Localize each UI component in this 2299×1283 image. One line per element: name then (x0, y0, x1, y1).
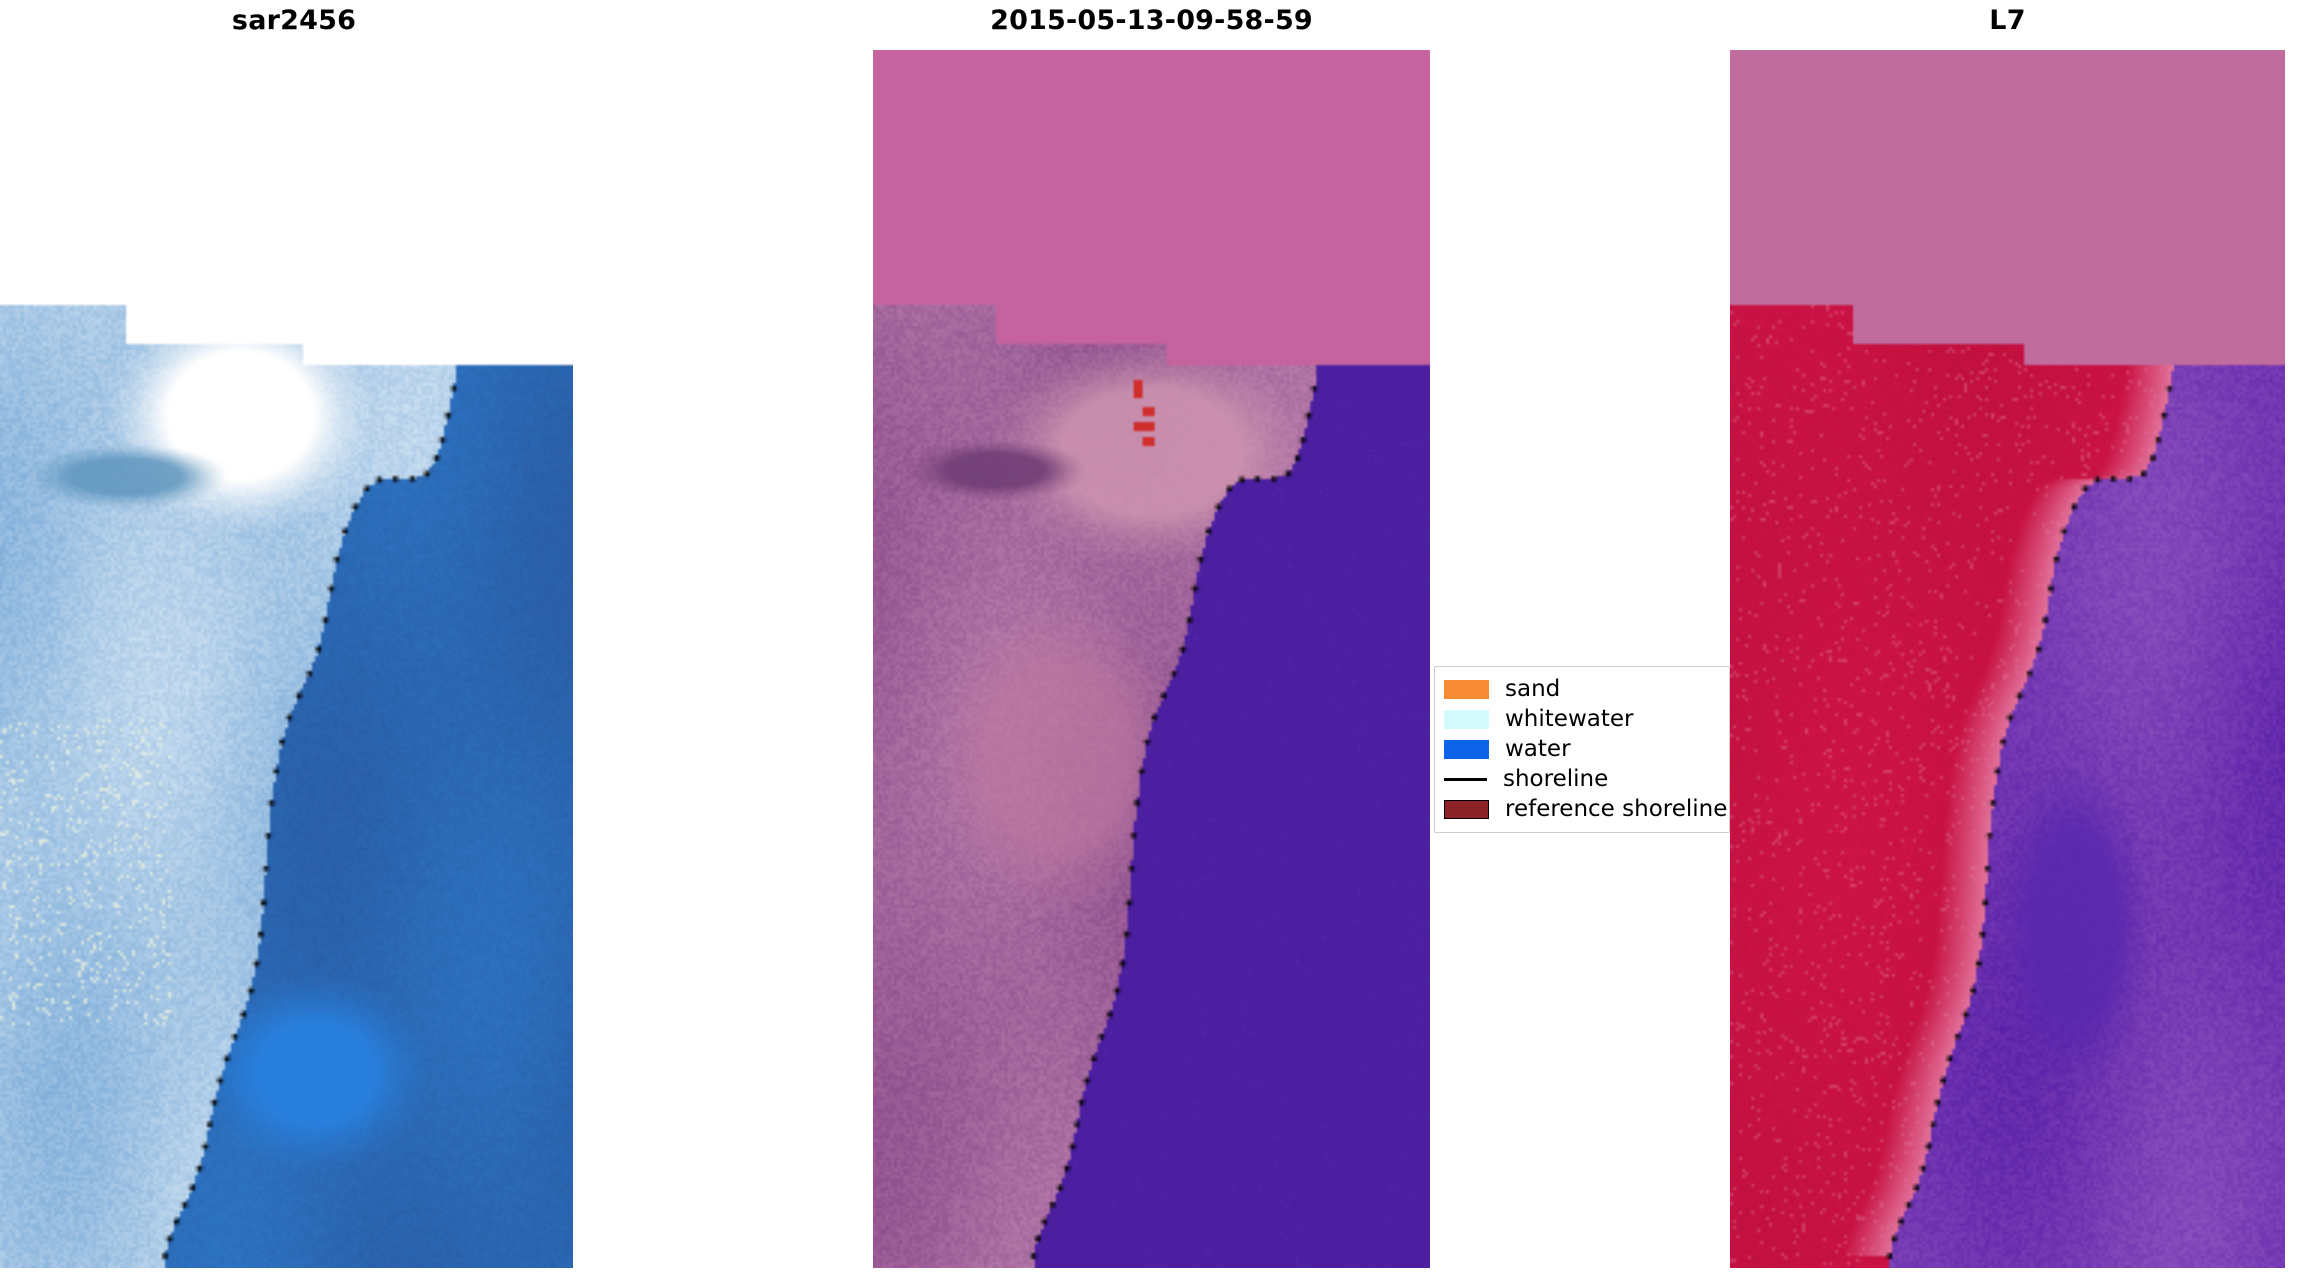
panel-sar[interactable] (0, 50, 573, 1268)
legend-item-whitewater: whitewater (1444, 704, 1720, 734)
whitewater-swatch-icon (1444, 710, 1489, 729)
reference-buffer-swatch-icon (1444, 800, 1489, 819)
legend-label-whitewater: whitewater (1505, 708, 1633, 731)
l7-raster (1730, 50, 2285, 1268)
legend-item-shoreline: shoreline (1444, 764, 1720, 794)
legend-label-sand: sand (1505, 678, 1560, 701)
legend-item-reference-shoreline-buffer: reference shoreline buffer (1444, 794, 1720, 824)
shoreline-line-icon (1444, 771, 1487, 788)
legend-item-sand: sand (1444, 674, 1720, 704)
figure-canvas: sar2456 2015-05-13-09-58-59 L7 sand whit… (0, 0, 2299, 1283)
optical-raster (873, 50, 1430, 1268)
legend-label-water: water (1505, 738, 1571, 761)
panel-l7[interactable] (1730, 50, 2285, 1268)
sar-raster (0, 50, 573, 1268)
panel-title-l7: L7 (1730, 5, 2285, 36)
water-swatch-icon (1444, 740, 1489, 759)
legend-label-shoreline: shoreline (1503, 768, 1608, 791)
panel-optical[interactable] (873, 50, 1430, 1268)
legend-box[interactable]: sand whitewater water shoreline referenc… (1434, 666, 1730, 833)
legend-item-water: water (1444, 734, 1720, 764)
panel-title-optical: 2015-05-13-09-58-59 (873, 5, 1430, 36)
legend-label-reference-shoreline-buffer: reference shoreline buffer (1505, 798, 1730, 821)
sand-swatch-icon (1444, 680, 1489, 699)
panel-title-sar: sar2456 (0, 5, 588, 36)
